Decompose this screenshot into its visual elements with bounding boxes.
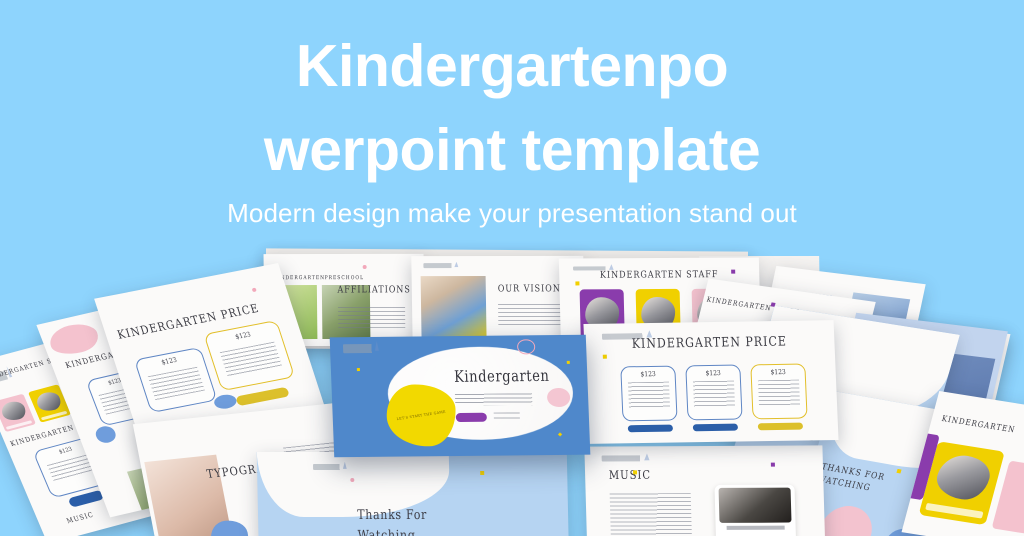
slide-title: Kindergarten (941, 414, 1017, 435)
price-value: $123 (752, 368, 805, 377)
slide-main-kindergarten[interactable]: Kindergarten LET'S START THE GAME (330, 335, 591, 458)
decor-blob-pink (46, 320, 104, 358)
decor-blob-blue (93, 425, 118, 445)
confetti-dot (363, 265, 367, 269)
price-tier-2: $123 (685, 365, 742, 421)
slide-footer-title: Music (66, 511, 96, 526)
slide-title: Our Vision (498, 283, 561, 294)
music-photo-card (714, 484, 797, 536)
slide-title: Music (609, 469, 651, 482)
register-button-2[interactable] (693, 424, 738, 432)
decor-circle-pink (547, 388, 571, 407)
slide-title: Kindergarten (454, 367, 550, 386)
slide-title: Kindergarten Price (584, 333, 835, 352)
blob-label: LET'S START THE GAME (381, 380, 460, 452)
secondary-link[interactable] (494, 412, 520, 421)
decor-blob-yellow: LET'S START THE GAME (385, 384, 457, 447)
confetti-square (558, 433, 562, 437)
slide-music[interactable]: Music (584, 445, 825, 536)
slide-collage-stage: Kindergarten Staff Kindergarten Price $1… (0, 0, 1024, 536)
confetti-square (602, 355, 606, 359)
confetti-square (356, 368, 359, 371)
confetti-square (731, 269, 735, 273)
slide-kindergarten-price[interactable]: Kindergarten Price $123 $123 $123 (583, 320, 838, 444)
slide-photo (420, 276, 486, 344)
slide-title: Kindergarten Staff (559, 269, 759, 281)
confetti-square (897, 469, 902, 474)
slide-title: Thanks For Watching (357, 505, 428, 536)
price-box-2: $123 (203, 320, 295, 391)
price-tier-3: $123 (750, 364, 807, 420)
slide-thanks-for-watching[interactable]: Thanks For Watching (257, 452, 570, 536)
decor-blob-blue (212, 393, 238, 411)
price-box-1: $123 (134, 347, 218, 413)
price-tier-1: $123 (620, 366, 677, 422)
slide-body-text (455, 393, 532, 406)
decor-ring-pink (517, 339, 536, 355)
price-value: $123 (621, 370, 674, 379)
confetti-square (770, 462, 774, 466)
register-button[interactable] (235, 387, 290, 407)
kindergarten-logo-icon (313, 464, 357, 470)
register-button-1[interactable] (628, 425, 673, 433)
kindergarten-logo-icon (343, 344, 389, 353)
slide-title: Thanks For Watching (816, 460, 887, 496)
photo-caption (726, 525, 784, 529)
slide-label-b: Preschool (325, 276, 365, 282)
confetti-dot (251, 288, 256, 293)
register-button-3[interactable] (758, 423, 803, 431)
price-value: $123 (686, 369, 739, 378)
register-button[interactable] (456, 413, 487, 423)
confetti-square (575, 281, 579, 285)
confetti-square (480, 471, 484, 475)
confetti-square (633, 470, 637, 474)
kindergarten-logo-icon (423, 263, 468, 268)
slide-title: Affiliations (337, 284, 411, 295)
confetti-square (566, 361, 569, 364)
kindergarten-logo-icon (601, 456, 663, 462)
